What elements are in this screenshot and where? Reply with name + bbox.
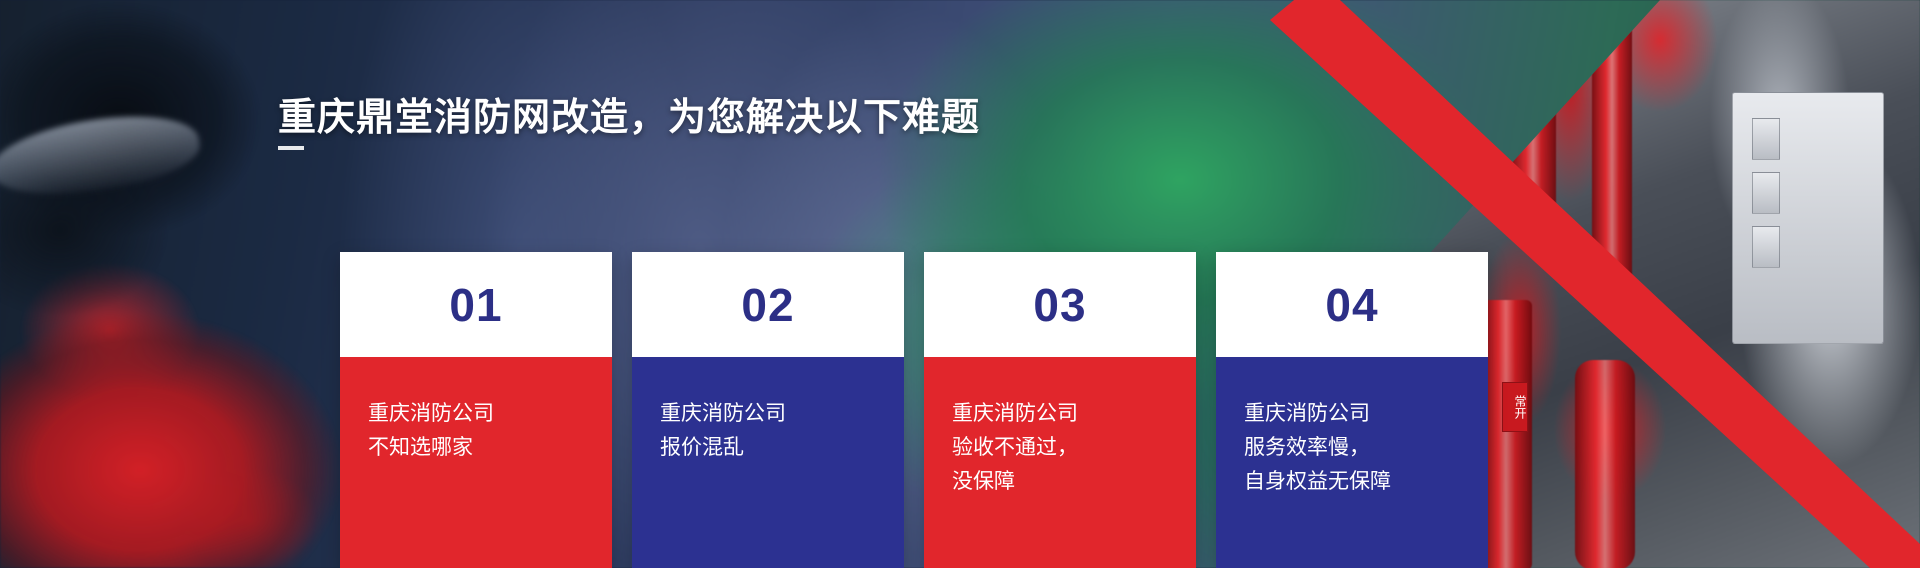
title-underline-rule (278, 146, 304, 150)
card-text-02: 重庆消防公司 报价混乱 (632, 357, 904, 568)
problem-card-02[interactable]: 02 重庆消防公司 报价混乱 (632, 252, 904, 568)
card-number-03: 03 (924, 252, 1196, 357)
red-valve-body (1575, 360, 1635, 568)
cabinet-gauge-1 (1752, 118, 1780, 160)
page-title: 重庆鼎堂消防网改造，为您解决以下难题 (278, 86, 980, 141)
banner-stage: 常开 常闭 常开 重庆鼎堂消防网改造，为您解决以下难题 01 重庆消防公司 不知… (0, 0, 1920, 568)
card-number-02: 02 (632, 252, 904, 357)
valve-sign-open-bottom: 常开 (1502, 382, 1528, 432)
problem-card-01[interactable]: 01 重庆消防公司 不知选哪家 (340, 252, 612, 568)
cabinet-gauge-3 (1752, 226, 1780, 268)
card-text-04: 重庆消防公司 服务效率慢， 自身权益无保障 (1216, 357, 1488, 568)
card-number-04: 04 (1216, 252, 1488, 357)
problem-card-04[interactable]: 04 重庆消防公司 服务效率慢， 自身权益无保障 (1216, 252, 1488, 568)
card-number-01: 01 (340, 252, 612, 357)
card-text-01: 重庆消防公司 不知选哪家 (340, 357, 612, 568)
cabinet-gauge-2 (1752, 172, 1780, 214)
problem-cards-list: 01 重庆消防公司 不知选哪家 02 重庆消防公司 报价混乱 03 重庆消防公司… (340, 252, 1488, 568)
card-text-03: 重庆消防公司 验收不通过， 没保障 (924, 357, 1196, 568)
problem-card-03[interactable]: 03 重庆消防公司 验收不通过， 没保障 (924, 252, 1196, 568)
